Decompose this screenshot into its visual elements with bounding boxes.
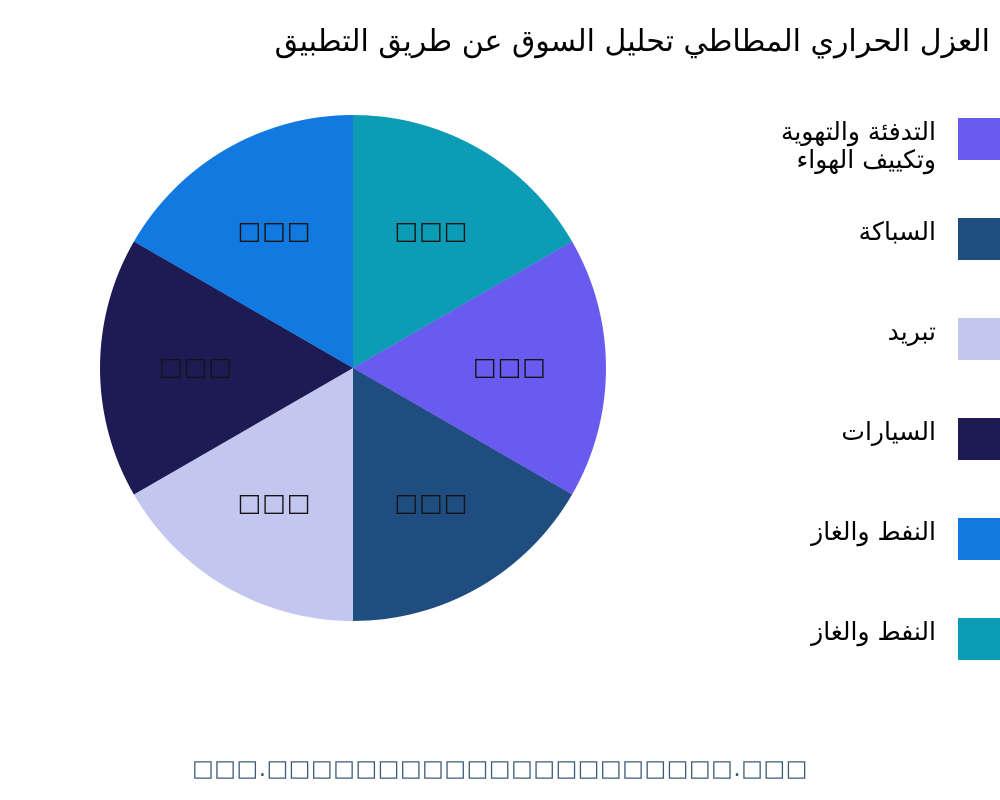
legend-item[interactable]: السباكة bbox=[612, 218, 1000, 260]
chart-title: العزل الحراري المطاطي تحليل السوق عن طري… bbox=[10, 16, 990, 68]
legend-item[interactable]: السيارات bbox=[612, 418, 1000, 460]
legend-item[interactable]: تبريد bbox=[612, 318, 1000, 360]
pie-slice-label: □□□ bbox=[473, 352, 547, 381]
legend-item-label: النفط والغاز bbox=[612, 518, 958, 546]
pie-slice-label: □□□ bbox=[238, 488, 312, 517]
legend-color-swatch bbox=[958, 118, 1000, 160]
legend-color-swatch bbox=[958, 518, 1000, 560]
pie-chart-svg: □□□□□□□□□□□□□□□□□□ bbox=[100, 115, 606, 621]
pie-chart: □□□□□□□□□□□□□□□□□□ bbox=[100, 115, 606, 621]
legend-color-swatch bbox=[958, 618, 1000, 660]
legend-item[interactable]: النفط والغاز bbox=[612, 618, 1000, 660]
chart-canvas: العزل الحراري المطاطي تحليل السوق عن طري… bbox=[0, 0, 1000, 800]
legend-item-label: التدفئة والتهوية وتكييف الهواء bbox=[612, 118, 958, 174]
pie-slice-label: □□□ bbox=[159, 352, 233, 381]
legend-item[interactable]: التدفئة والتهوية وتكييف الهواء bbox=[612, 118, 1000, 174]
legend-item[interactable]: النفط والغاز bbox=[612, 518, 1000, 560]
legend-item-label: السيارات bbox=[612, 418, 958, 446]
pie-slice-label: □□□ bbox=[394, 488, 468, 517]
footer-url-watermark: □□□.□□□□□□□□□□□□□□□□□□□□□.□□□ bbox=[0, 756, 1000, 782]
legend-color-swatch bbox=[958, 418, 1000, 460]
pie-slice-label: □□□ bbox=[238, 216, 312, 245]
legend-color-swatch bbox=[958, 218, 1000, 260]
legend-color-swatch bbox=[958, 318, 1000, 360]
legend-item-label: تبريد bbox=[612, 318, 958, 346]
legend-item-label: السباكة bbox=[612, 218, 958, 246]
pie-slice-label: □□□ bbox=[394, 216, 468, 245]
legend-item-label: النفط والغاز bbox=[612, 618, 958, 646]
